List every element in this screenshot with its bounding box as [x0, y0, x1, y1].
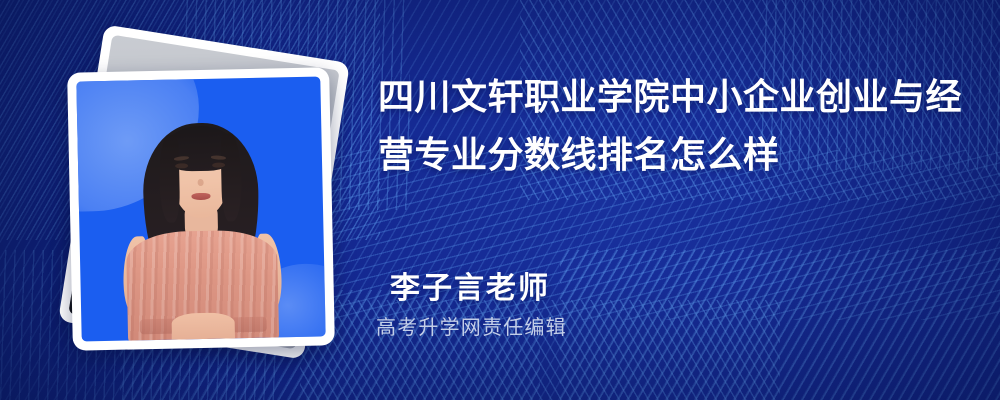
- hair-side-left: [159, 134, 181, 223]
- mouth: [191, 193, 210, 200]
- byline: 李子言老师 高考升学网责任编辑: [390, 272, 567, 340]
- author-name: 李子言老师: [390, 272, 567, 307]
- page-title: 四川文轩职业学院中小企业创业与经营专业分数线排名怎么样: [378, 68, 966, 184]
- banner-content: 四川文轩职业学院中小企业创业与经营专业分数线排名怎么样 李子言老师 高考升学网责…: [376, 0, 1000, 400]
- hands: [171, 312, 235, 339]
- avatar: [76, 76, 325, 341]
- nose: [198, 179, 204, 186]
- author-role: 高考升学网责任编辑: [376, 316, 567, 340]
- photo-stack: [52, 36, 352, 366]
- article-banner: 四川文轩职业学院中小企业创业与经营专业分数线排名怎么样 李子言老师 高考升学网责…: [0, 0, 1000, 400]
- portrait-photo-icon: [76, 76, 325, 341]
- portrait-frame: [67, 67, 335, 350]
